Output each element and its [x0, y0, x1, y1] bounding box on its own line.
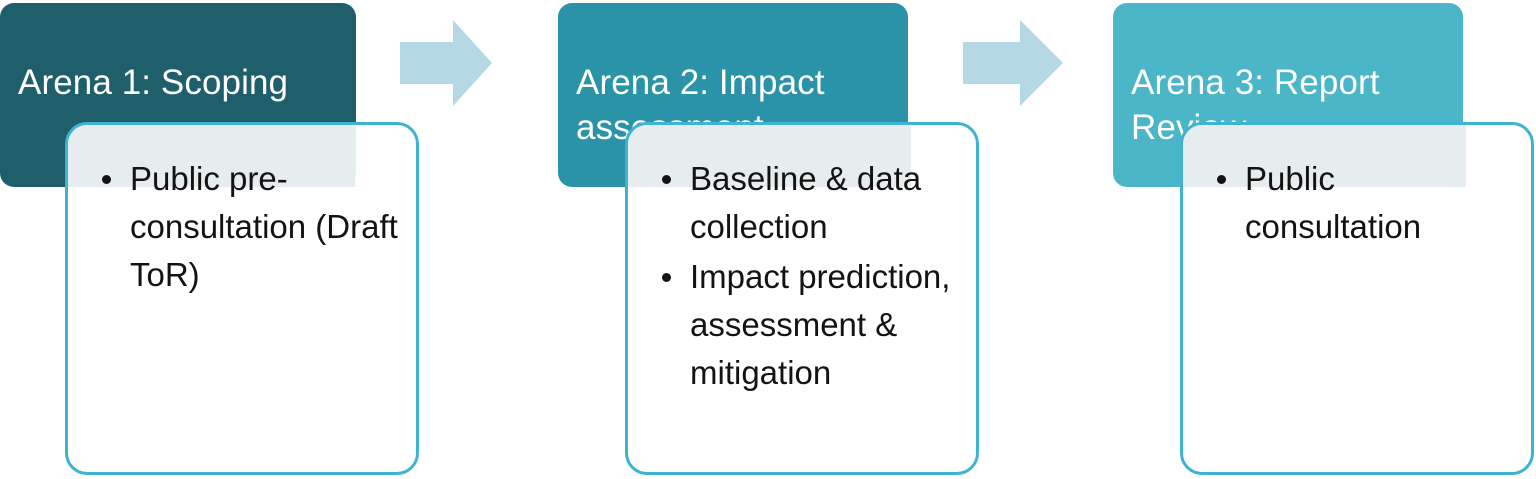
- list-item: Impact prediction, assessment & mitigati…: [690, 253, 962, 397]
- list-item: Public pre-consultation (Draft ToR): [130, 155, 402, 299]
- stage-panel-arena-2: Baseline & data collection Impact predic…: [625, 122, 979, 475]
- stage-panel-arena-1: Public pre-consultation (Draft ToR): [65, 122, 419, 475]
- block-arrow-right-icon: [400, 20, 492, 106]
- list-item-label: Public consultation: [1245, 160, 1421, 245]
- list-item-label: Baseline & data collection: [690, 160, 921, 245]
- bullet-list-arena-1: Public pre-consultation (Draft ToR): [68, 125, 416, 299]
- list-item: Baseline & data collection: [690, 155, 962, 251]
- block-arrow-right-icon: [963, 20, 1063, 106]
- connector-arrow-1: [400, 20, 492, 106]
- process-flow-diagram: Arena 1: Scoping Public pre-consultation…: [0, 0, 1536, 479]
- bullet-dot-icon: [1217, 175, 1226, 184]
- list-item-label: Public pre-consultation (Draft ToR): [130, 160, 398, 293]
- connector-arrow-2: [963, 20, 1063, 106]
- bullet-list-arena-3: Public consultation: [1183, 125, 1531, 251]
- bullet-list-arena-2: Baseline & data collection Impact predic…: [628, 125, 976, 397]
- list-item-label: Impact prediction, assessment & mitigati…: [690, 258, 950, 391]
- bullet-dot-icon: [662, 273, 671, 282]
- stage-panel-arena-3: Public consultation: [1180, 122, 1534, 475]
- bullet-dot-icon: [102, 175, 111, 184]
- list-item: Public consultation: [1245, 155, 1517, 251]
- stage-header-label: Arena 1: Scoping: [18, 63, 288, 102]
- bullet-dot-icon: [662, 175, 671, 184]
